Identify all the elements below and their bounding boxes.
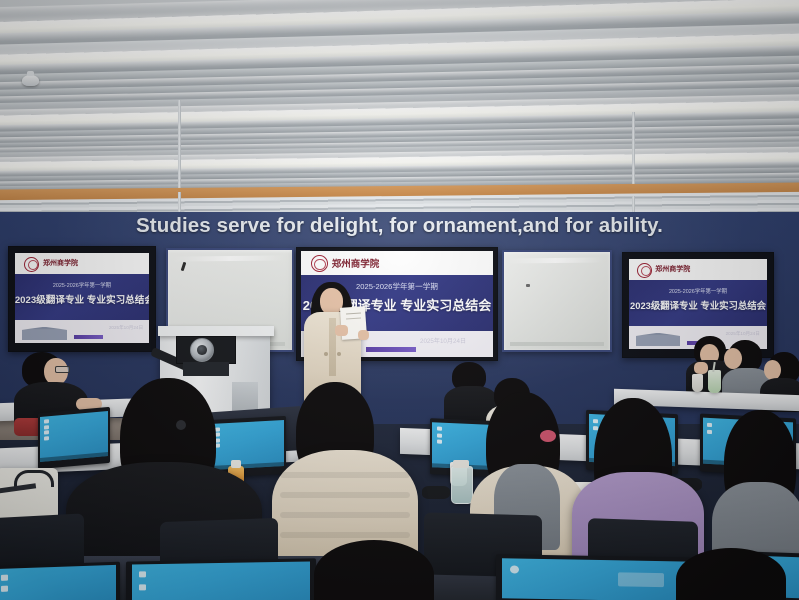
- student-head: [764, 360, 781, 380]
- glasses-icon: [55, 366, 70, 373]
- center-slide-header: 郑州商学院: [301, 251, 493, 274]
- left-slide-header: 郑州商学院: [15, 253, 149, 274]
- coat-button-icon: [324, 352, 328, 356]
- center-university-name: 郑州商学院: [332, 256, 380, 270]
- taskbar: [40, 452, 108, 462]
- right-slide-date: 2025年10月24日: [726, 331, 760, 337]
- bottle-cap-icon: [231, 460, 241, 468]
- left-slide-date: 2025年10月24日: [109, 325, 143, 331]
- clear-water-bottle: [451, 466, 473, 504]
- right-slide: 郑州商学院 2025-2026学年第一学期 2023级翻译专业 专业实习总结会 …: [629, 259, 767, 348]
- window-preview: [618, 572, 664, 587]
- hair-scrunchie-icon: [540, 430, 556, 442]
- classroom-photo: Studies serve for delight, for ornament,…: [0, 0, 799, 600]
- whiteboard-marker-icon: [181, 262, 187, 271]
- campus-building-icon: [22, 330, 68, 341]
- desktop-icon: [510, 565, 519, 573]
- podium-surface: [158, 326, 274, 336]
- ceiling: [0, 0, 799, 196]
- left-slide-footer: 2025年10月24日: [15, 320, 149, 342]
- whiteboard-left-glare: [173, 255, 285, 261]
- campus-building-icon: [636, 336, 680, 347]
- monitor-screen: [502, 558, 696, 600]
- green-drink-cup: [708, 370, 721, 393]
- wall-motto-text: Studies serve for delight, for ornament,…: [0, 214, 799, 238]
- left-university-name: 郑州商学院: [43, 258, 78, 268]
- left-slide-title: 2023级翻译专业 专业实习总结会: [15, 292, 149, 306]
- student-monitor: [38, 407, 110, 469]
- monitor-screen: [40, 411, 108, 462]
- whiteboard-right-tray: [510, 342, 603, 346]
- hair-clip-icon: [176, 420, 186, 430]
- student-hand: [694, 362, 708, 374]
- right-slide-header: 郑州商学院: [629, 259, 767, 280]
- right-slide-subtitle: 2025-2026学年第一学期: [629, 287, 767, 295]
- white-coffee-cup: [692, 374, 703, 392]
- university-crest-icon: [24, 257, 39, 272]
- left-slide: 郑州商学院 2025-2026学年第一学期 2023级翻译专业 专业实习总结会 …: [15, 253, 149, 342]
- monitor-screen: [210, 420, 283, 470]
- puffer-seam: [280, 532, 410, 538]
- bottle-cap-icon: [453, 460, 469, 468]
- monitor-screen: [132, 562, 311, 600]
- right-slide-body: 2025-2026学年第一学期 2023级翻译专业 专业实习总结会: [629, 280, 767, 327]
- right-slide-title: 2023级翻译专业 专业实习总结会: [629, 298, 767, 312]
- smoke-detector-icon: [22, 75, 39, 86]
- camera-lens-icon: [190, 338, 214, 362]
- coat-button-icon: [337, 352, 341, 356]
- left-wall-display: 郑州商学院 2025-2026学年第一学期 2023级翻译专业 专业实习总结会 …: [8, 246, 156, 352]
- right-university-name: 郑州商学院: [655, 264, 690, 274]
- foreground-monitor: [126, 558, 316, 600]
- whiteboard-right-glare: [508, 257, 603, 263]
- ceiling-post-left: [178, 100, 181, 196]
- foreground-monitor: [0, 562, 120, 600]
- student-head: [724, 348, 742, 369]
- left-slide-ribbon: [74, 335, 104, 339]
- university-crest-icon: [311, 255, 328, 272]
- black-mouse: [422, 486, 450, 499]
- whiteboard-right: [502, 250, 612, 352]
- puffer-seam: [280, 492, 410, 498]
- foreground-monitor: [496, 554, 702, 600]
- presenter-hand: [335, 325, 348, 336]
- monitor-screen: [0, 565, 116, 600]
- left-slide-subtitle: 2025-2026学年第一学期: [15, 281, 149, 289]
- center-slide-ribbon: [366, 347, 416, 352]
- whiteboard-magnet-icon: [526, 284, 530, 287]
- left-slide-body: 2025-2026学年第一学期 2023级翻译专业 专业实习总结会: [15, 274, 149, 321]
- center-slide-date: 2025年10月24日: [420, 336, 466, 345]
- presenter-hand: [358, 330, 369, 340]
- puffer-seam: [280, 472, 410, 478]
- puffer-seam: [280, 512, 410, 518]
- university-crest-icon: [637, 263, 652, 278]
- podium-monitor: [183, 362, 229, 376]
